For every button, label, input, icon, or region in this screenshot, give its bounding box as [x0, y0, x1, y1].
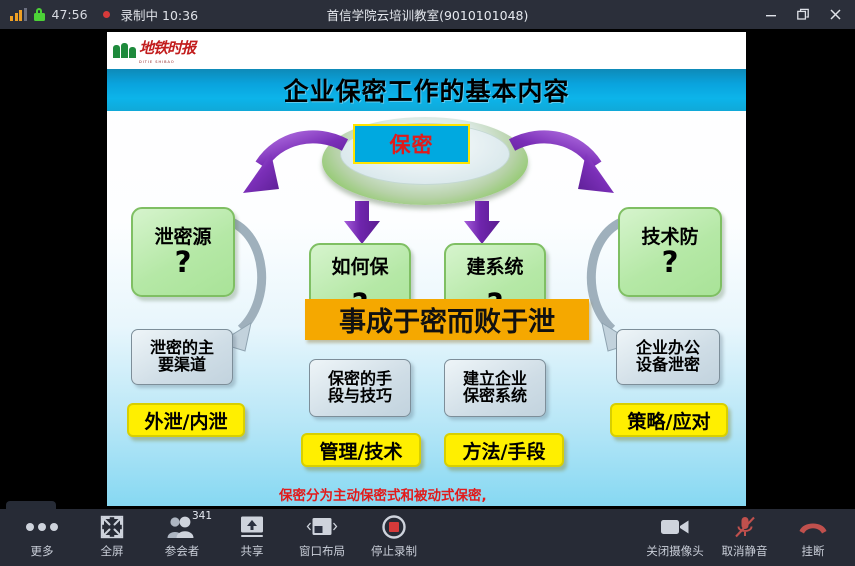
box-xiemi-channels: 泄密的主 要渠道 — [131, 329, 233, 385]
slide-logo-bar: 地铁时报 DITIE SHIBAO — [107, 32, 746, 69]
recording-status: 录制中 10:36 — [121, 5, 199, 24]
slide-title-banner: 企业保密工作的基本内容 — [107, 69, 746, 111]
center-node-baomi: 保密 — [353, 124, 470, 164]
toolbar-button-share[interactable]: 共享 — [216, 515, 288, 562]
toolbar-button-participants[interactable]: 341 参会者 — [146, 515, 218, 562]
box-baomi-methods-line2: 段与技巧 — [328, 388, 392, 405]
box-xiemiyuan-question: ? — [175, 249, 192, 277]
title-bar-status-group: 47:56 录制中 10:36 — [0, 5, 198, 24]
box-yellow-waixie-neixie: 外泄/内泄 — [127, 403, 245, 437]
logo-text: 地铁时报 — [139, 37, 195, 58]
highlight-banner-text: 事成于密而败于泄 — [339, 300, 555, 339]
toolbar-button-stop-record[interactable]: 停止录制 — [358, 515, 430, 562]
toolbar-label-layout: 窗口布局 — [299, 543, 345, 559]
highlight-banner: 事成于密而败于泄 — [305, 299, 589, 340]
slide-title-text: 企业保密工作的基本内容 — [283, 72, 569, 108]
meeting-toolbar: 更多 全屏 34 — [0, 509, 855, 566]
presentation-slide: 地铁时报 DITIE SHIBAO 企业保密工作的基本内容 保密 — [107, 32, 746, 506]
recording-dot-icon — [103, 11, 110, 18]
restore-button[interactable] — [787, 0, 819, 29]
box-yellow-celue-yingdui: 策略/应对 — [610, 403, 728, 437]
toolbar-button-hangup[interactable]: 挂断 — [782, 515, 844, 562]
mic-muted-icon — [733, 515, 757, 539]
slide-footnote-line1: 保密分为主动保密式和被动式保密, — [279, 487, 609, 506]
box-build-system-line2: 保密系统 — [463, 388, 527, 405]
brand-logo-icon: 地铁时报 DITIE SHIBAO — [113, 37, 195, 64]
participants-icon: 341 — [166, 515, 198, 539]
shared-content-stage: 地铁时报 DITIE SHIBAO 企业保密工作的基本内容 保密 — [0, 29, 855, 506]
elapsed-time: 47:56 — [52, 7, 88, 22]
toolbar-label-participants: 参会者 — [165, 543, 200, 559]
share-icon — [239, 515, 265, 539]
arrow-purple-down-left-icon — [343, 201, 381, 245]
toolbar-label-mic: 取消静音 — [722, 543, 768, 559]
box-yellow-celue-yingdui-label: 策略/应对 — [628, 407, 711, 434]
box-yellow-fangfa-shouduan-label: 方法/手段 — [463, 437, 546, 464]
window-controls — [755, 0, 851, 29]
toolbar-button-mic[interactable]: 取消静音 — [712, 515, 777, 562]
arrow-purple-right-icon — [505, 131, 630, 211]
hangup-icon — [797, 515, 829, 539]
fullscreen-icon — [100, 515, 124, 539]
box-yellow-waixie-neixie-label: 外泄/内泄 — [145, 407, 228, 434]
box-build-system: 建立企业 保密系统 — [444, 359, 546, 417]
slide-canvas: 保密 — [107, 111, 746, 506]
box-xiemiyuan-label: 泄密源 — [154, 228, 211, 247]
toolbar-label-stop-record: 停止录制 — [371, 543, 417, 559]
box-jishufang: 技术防 ? — [618, 207, 722, 297]
box-yellow-fangfa-shouduan: 方法/手段 — [444, 433, 564, 467]
box-xiemiyuan: 泄密源 ? — [131, 207, 235, 297]
box-xiemi-channels-line2: 要渠道 — [158, 357, 206, 374]
box-jishufang-question: ? — [662, 249, 679, 277]
box-jianxitong-label: 建系统 — [466, 258, 523, 277]
minimize-button[interactable] — [755, 0, 787, 29]
box-baomi-methods: 保密的手 段与技巧 — [309, 359, 411, 417]
meeting-window: 47:56 录制中 10:36 首信学院云培训教室(9010101048) — [0, 0, 855, 566]
box-ruhebao-label: 如何保 — [331, 258, 388, 277]
box-yellow-guanli-jishu: 管理/技术 — [301, 433, 421, 467]
toolbar-button-camera[interactable]: 关闭摄像头 — [640, 515, 710, 562]
layout-icon — [306, 515, 338, 539]
arrow-purple-left-icon — [227, 131, 352, 211]
slide-footnote: 保密分为主动保密式和被动式保密, 主动式——反情报；被动式——保密 — [279, 487, 609, 506]
close-button[interactable] — [819, 0, 851, 29]
toolbar-button-more[interactable]: 更多 — [6, 515, 78, 562]
center-node-label: 保密 — [390, 129, 434, 159]
box-yellow-guanli-jishu-label: 管理/技术 — [320, 437, 403, 464]
more-icon — [25, 515, 59, 539]
toolbar-button-layout[interactable]: 窗口布局 — [286, 515, 358, 562]
toolbar-label-share: 共享 — [241, 543, 264, 559]
camera-icon — [660, 515, 690, 539]
toolbar-button-fullscreen[interactable]: 全屏 — [76, 515, 148, 562]
signal-bars-icon — [10, 8, 27, 21]
box-jishufang-label: 技术防 — [641, 228, 698, 247]
box-office-equipment-leak-line2: 设备泄密 — [636, 357, 700, 374]
arrow-purple-down-right-icon — [463, 201, 501, 245]
lock-icon — [34, 8, 45, 21]
toolbar-label-camera: 关闭摄像头 — [646, 543, 704, 559]
title-bar: 47:56 录制中 10:36 首信学院云培训教室(9010101048) — [0, 0, 855, 29]
logo-subtext: DITIE SHIBAO — [139, 60, 195, 64]
toolbar-label-more: 更多 — [31, 543, 54, 559]
participants-count-badge: 341 — [192, 510, 212, 522]
toolbar-label-fullscreen: 全屏 — [101, 543, 124, 559]
box-office-equipment-leak: 企业办公 设备泄密 — [616, 329, 720, 385]
stop-record-icon — [382, 515, 406, 539]
toolbar-label-hangup: 挂断 — [802, 543, 825, 559]
